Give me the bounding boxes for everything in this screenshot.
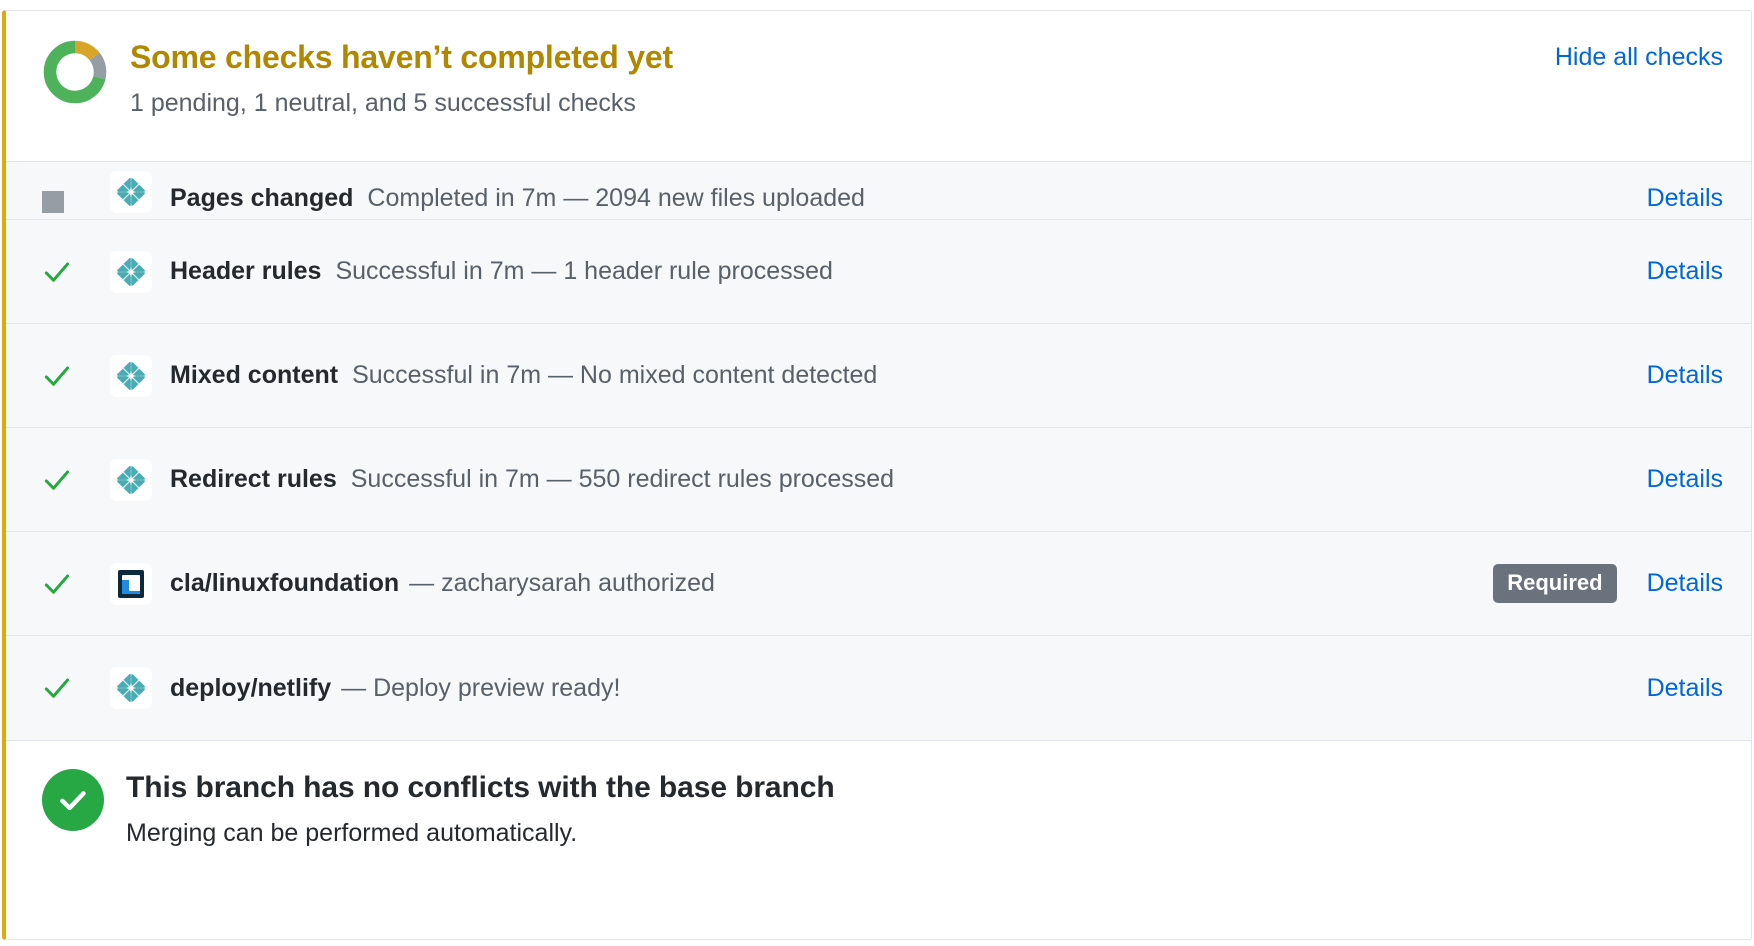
check-name[interactable]: Pages changed [170,184,353,213]
netlify-diamond-icon [110,171,152,213]
neutral-square-icon [42,191,88,213]
check-name[interactable]: Header rules [170,257,321,286]
check-icon [42,673,88,703]
check-description: Successful in 7m — 550 redirect rules pr… [351,465,894,494]
required-badge: Required [1493,564,1616,603]
branch-status-subtitle: Merging can be performed automatically. [126,817,1723,850]
netlify-diamond-icon [110,251,152,293]
check-description: — Deploy preview ready! [341,674,620,703]
hide-all-checks-link[interactable]: Hide all checks [1555,35,1723,72]
check-description: — zacharysarah authorized [409,569,715,598]
check-description: Successful in 7m — 1 header rule process… [335,257,832,286]
checks-donut-chart [42,39,108,105]
check-icon [42,361,88,391]
neutral-square-glyph [42,191,64,213]
check-row: Mixed contentSuccessful in 7m — No mixed… [6,324,1751,428]
check-icon [42,569,88,599]
branch-status-title: This branch has no conflicts with the ba… [126,769,1723,807]
check-row: cla/linuxfoundation— zacharysarah author… [6,532,1751,636]
checks-status-title: Some checks haven’t completed yet [130,37,1555,77]
check-row: Pages changedCompleted in 7m — 2094 new … [6,162,1751,220]
check-name[interactable]: cla/linuxfoundation [170,569,399,598]
check-name[interactable]: deploy/netlify [170,674,331,703]
netlify-diamond-icon [110,459,152,501]
details-link[interactable]: Details [1647,184,1723,213]
details-link[interactable]: Details [1647,569,1723,598]
branch-conflict-status: This branch has no conflicts with the ba… [6,740,1751,875]
check-row: Header rulesSuccessful in 7m — 1 header … [6,220,1751,324]
check-circle-icon [42,769,104,831]
checks-status-subtitle: 1 pending, 1 neutral, and 5 successful c… [130,87,1555,120]
check-name[interactable]: Redirect rules [170,465,337,494]
checks-list: Pages changedCompleted in 7m — 2094 new … [6,161,1751,740]
branch-status-text-group: This branch has no conflicts with the ba… [126,767,1723,849]
summary-text-group: Some checks haven’t completed yet 1 pend… [130,35,1555,120]
check-icon [42,465,88,495]
check-description: Completed in 7m — 2094 new files uploade… [367,184,865,213]
check-description: Successful in 7m — No mixed content dete… [352,361,877,390]
check-name[interactable]: Mixed content [170,361,338,390]
netlify-diamond-icon [110,667,152,709]
checks-summary-header: Some checks haven’t completed yet 1 pend… [6,11,1751,161]
linuxfoundation-icon [110,563,152,605]
details-link[interactable]: Details [1647,257,1723,286]
details-link[interactable]: Details [1647,465,1723,494]
details-link[interactable]: Details [1647,674,1723,703]
donut-segment-successful [50,47,100,97]
details-link[interactable]: Details [1647,361,1723,390]
merge-status-box: Some checks haven’t completed yet 1 pend… [2,10,1752,940]
netlify-diamond-icon [110,355,152,397]
pr-merge-status-panel: Some checks haven’t completed yet 1 pend… [0,0,1754,946]
check-icon [42,257,88,287]
check-row: Redirect rulesSuccessful in 7m — 550 red… [6,428,1751,532]
check-row: deploy/netlify— Deploy preview ready!Det… [6,636,1751,740]
